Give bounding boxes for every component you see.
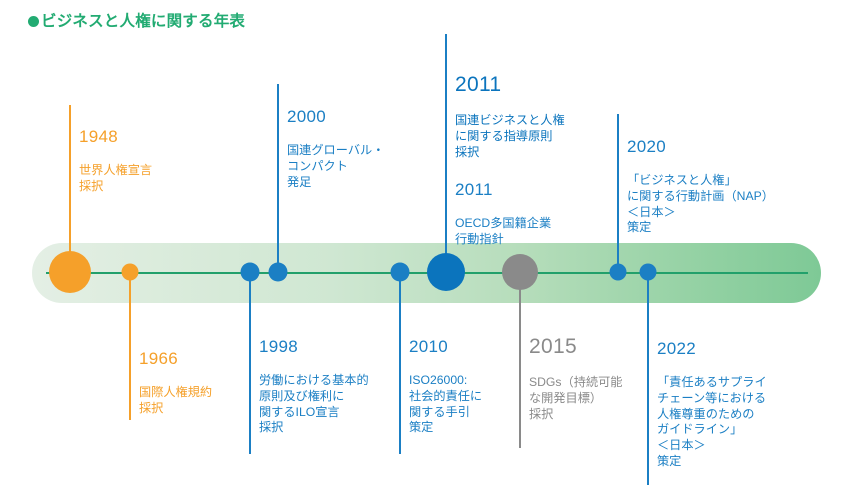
timeline-dot-udhr-1948[interactable]: [49, 251, 91, 293]
connector-stem-ungc-2000: [277, 84, 279, 272]
page-title-text: ビジネスと人権に関する年表: [41, 13, 245, 30]
connector-stem-nap-2020: [617, 114, 619, 272]
event-body-nap-2020: 「ビジネスと人権」 に関する行動計画（NAP） ＜日本＞ 策定: [627, 173, 812, 235]
bullet-circle-icon: [28, 16, 39, 27]
connector-stem-ungp-2011: [445, 34, 447, 272]
event-year-udhr-1948: 1948: [79, 126, 209, 147]
timeline-dot-guideline-2022[interactable]: [640, 264, 657, 281]
event-body-ilo-1998: 労働における基本的 原則及び権利に 関するILO宣言 採択: [259, 373, 399, 435]
event-body-iso26000-2010: ISO26000: 社会的責任に 関する手引 策定: [409, 373, 519, 435]
connector-stem-guideline-2022: [647, 272, 649, 485]
event-year-ilo-1998: 1998: [259, 336, 399, 357]
event-body-ungp-2011: 国連ビジネスと人権 に関する指導原則 採択: [455, 113, 620, 160]
event-year-guideline-2022: 2022: [657, 338, 817, 359]
connector-stem-sdgs-2015: [519, 272, 521, 448]
connector-stem-ilo-1998: [249, 272, 251, 454]
event-block-sdgs-2015: 2015 SDGs（持続可能 な開発目標） 採択: [529, 318, 654, 438]
connector-stem-udhr-1948: [69, 105, 71, 272]
event-block-iccpr-1966: 1966 国際人権規約 採択: [139, 332, 259, 432]
event-block-ungp-2011: 2011 国連ビジネスと人権 に関する指導原則 採択: [455, 56, 620, 176]
event-body-iccpr-1966: 国際人権規約 採択: [139, 385, 259, 416]
event-block-udhr-1948: 1948 世界人権宣言 採択: [79, 110, 209, 210]
timeline-infographic: ビジネスと人権に関する年表 1948 世界人権宣言 採択 1966 国際人権規約…: [0, 0, 853, 497]
page-title: ビジネスと人権に関する年表: [28, 9, 245, 31]
connector-stem-iso26000-2010: [399, 272, 401, 454]
event-block-ungc-2000: 2000 国連グローバル・ コンパクト 発足: [287, 90, 437, 206]
timeline-dot-nap-2020[interactable]: [610, 264, 627, 281]
event-year-sdgs-2015: 2015: [529, 334, 654, 359]
event-year-ungc-2000: 2000: [287, 106, 437, 127]
event-block-iso26000-2010: 2010 ISO26000: 社会的責任に 関する手引 策定: [409, 320, 519, 452]
timeline-dot-sdgs-2015[interactable]: [502, 254, 538, 290]
timeline-dot-ungc-2000[interactable]: [269, 263, 288, 282]
event-body-oecd-2011: OECD多国籍企業 行動指針: [455, 216, 620, 247]
event-body-guideline-2022: 「責任あるサプライ チェーン等における 人権尊重のための ガイドライン」 ＜日本…: [657, 375, 817, 469]
event-year-oecd-2011: 2011: [455, 179, 620, 200]
event-body-sdgs-2015: SDGs（持続可能 な開発目標） 採択: [529, 375, 654, 422]
event-block-oecd-2011: 2011 OECD多国籍企業 行動指針: [455, 163, 620, 263]
timeline-dot-iso26000-2010[interactable]: [391, 263, 410, 282]
event-block-guideline-2022: 2022 「責任あるサプライ チェーン等における 人権尊重のための ガイドライン…: [657, 322, 817, 485]
timeline-dot-iccpr-1966[interactable]: [122, 264, 139, 281]
event-year-iso26000-2010: 2010: [409, 336, 519, 357]
timeline-dot-ilo-1998[interactable]: [241, 263, 260, 282]
connector-stem-iccpr-1966: [129, 272, 131, 420]
event-year-iccpr-1966: 1966: [139, 348, 259, 369]
event-block-ilo-1998: 1998 労働における基本的 原則及び権利に 関するILO宣言 採択: [259, 320, 399, 452]
event-body-ungc-2000: 国連グローバル・ コンパクト 発足: [287, 143, 437, 190]
event-year-ungp-2011: 2011: [455, 72, 620, 97]
event-body-udhr-1948: 世界人権宣言 採択: [79, 163, 209, 194]
event-year-nap-2020: 2020: [627, 136, 812, 157]
event-block-nap-2020: 2020 「ビジネスと人権」 に関する行動計画（NAP） ＜日本＞ 策定: [627, 120, 812, 252]
